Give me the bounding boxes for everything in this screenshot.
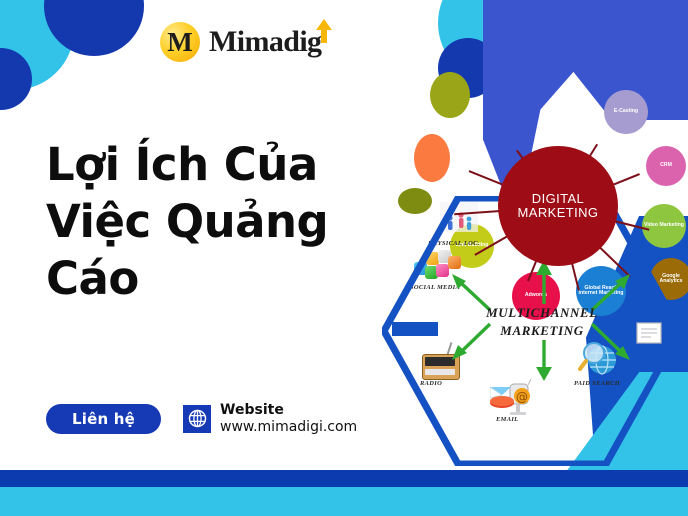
satellite-crm: CRM [646,146,686,186]
logo-monogram-icon: M [160,22,200,62]
website-label: Website [220,402,357,419]
multichannel-line-2: MARKETING [462,322,622,340]
satellite-e-casting: E-Casting [604,90,648,134]
poster-canvas: DIGITAL MARKETING E-Casting CRM Video Ma… [0,0,688,516]
headline-line-2: Việc Quảng [46,193,386,250]
multichannel-marketing-title: MULTICHANNEL MARKETING [462,304,622,339]
satellite-partial-olive-top [430,72,470,118]
footer-bar-cyan [0,487,688,516]
arrow-to-email [534,340,554,382]
hub-line-1: DIGITAL [518,192,599,206]
headline-line-3: Cáo [46,250,386,307]
hub-line-2: MARKETING [518,206,599,220]
logo-wordmark-wrap: Mimadig [209,27,321,57]
globe-icon [183,405,211,433]
website-text: Website www.mimadigi.com [220,402,357,436]
satellite-partial-orange [414,134,450,182]
headline-line-1: Lợi Ích Của [46,136,386,193]
multichannel-line-1: MULTICHANNEL [462,304,622,322]
website-url[interactable]: www.mimadigi.com [220,419,357,436]
digital-marketing-hub: DIGITAL MARKETING [498,146,618,266]
brand-logo: M Mimadig [160,22,321,62]
logo-monogram-letter: M [167,29,192,56]
satellite-label: CRM [660,163,672,168]
website-block[interactable]: Website www.mimadigi.com [183,402,357,436]
up-arrow-icon [315,18,333,44]
cta-row: Liên hệ Website www.mimadigi.com [46,402,357,436]
satellite-label: E-Casting [614,109,638,114]
logo-wordmark: Mimadig [209,25,321,58]
footer-bar-blue [0,470,688,487]
contact-button[interactable]: Liên hệ [46,404,161,434]
page-title: Lợi Ích Của Việc Quảng Cáo [46,136,386,307]
